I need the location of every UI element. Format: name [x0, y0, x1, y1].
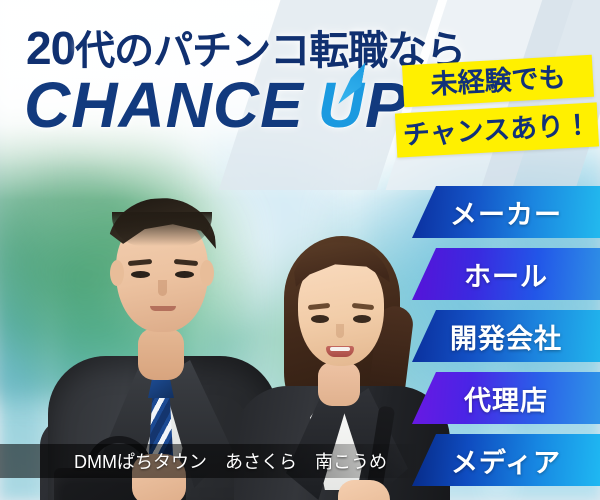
- category-label-development-company: 開発会社: [450, 317, 562, 356]
- category-button-hall[interactable]: ホール: [412, 248, 600, 300]
- credit-bar: DMMぱちタウン あさくら 南こうめ: [0, 444, 420, 478]
- category-button-list: メーカー ホール 開発会社 代理店 メディア: [0, 0, 600, 500]
- promo-banner: 20代のパチンコ転職なら CHANCEUP 未経験でも チャンスあり！ メーカー…: [0, 0, 600, 500]
- category-button-maker[interactable]: メーカー: [412, 186, 600, 238]
- category-button-media[interactable]: メディア: [412, 434, 600, 486]
- credit-text: DMMぱちタウン あさくら 南こうめ: [74, 448, 387, 474]
- category-button-agency[interactable]: 代理店: [412, 372, 600, 424]
- category-label-maker: メーカー: [450, 193, 562, 232]
- category-label-media: メディア: [451, 441, 561, 480]
- category-label-agency: 代理店: [464, 379, 548, 418]
- category-label-hall: ホール: [464, 255, 548, 294]
- category-button-development-company[interactable]: 開発会社: [412, 310, 600, 362]
